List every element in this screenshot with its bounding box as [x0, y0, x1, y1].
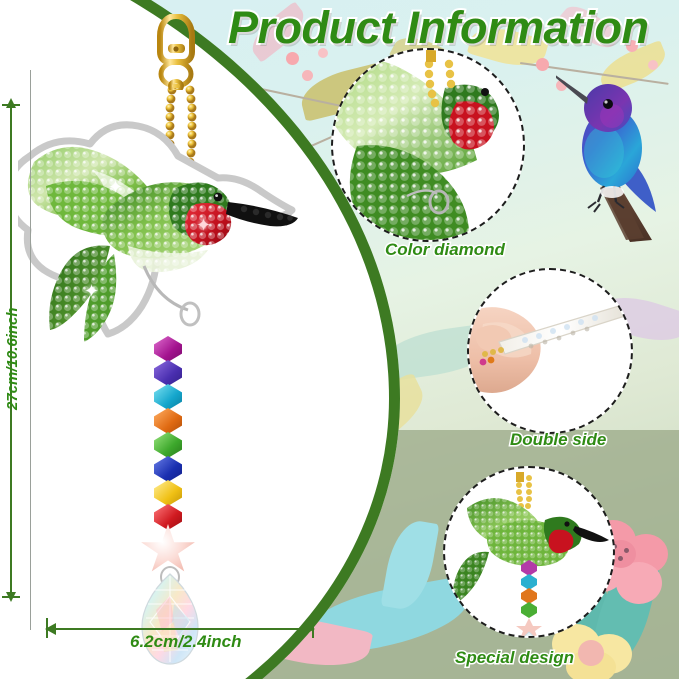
- width-endcap-left: [46, 618, 48, 638]
- berry-2: [302, 70, 313, 81]
- width-arrow-shaft: [56, 628, 304, 630]
- height-measurement-label: 27cm/10.6inch: [4, 307, 21, 410]
- flower-pink-petal-4: [616, 562, 662, 604]
- height-arrow-head-top: [6, 98, 16, 108]
- width-measurement-label: 6.2cm/2.4inch: [130, 632, 242, 652]
- flower-yellow-center: [578, 640, 604, 666]
- width-endcap-right: [312, 618, 314, 638]
- sparkle-3: ✦: [84, 282, 99, 300]
- berry-4: [536, 58, 549, 71]
- lobster-clasp-icon: [155, 14, 197, 90]
- callout-label-double-side: Double side: [510, 430, 606, 450]
- flower-stamen-3: [618, 556, 623, 561]
- sparkle-2: ✦: [196, 216, 211, 234]
- callout-double-side: [467, 268, 633, 434]
- real-hummingbird-illustration: [556, 52, 679, 242]
- flower-stamen-2: [624, 548, 629, 553]
- product-information-infographic: Product Information 27cm/10.6inch 6.2cm/…: [0, 0, 679, 679]
- page-title: Product Information: [228, 2, 648, 54]
- hummingbird-diamond-art: [18, 96, 318, 346]
- callout-color-diamond: [331, 48, 525, 242]
- callout-label-color-diamond: Color diamond: [385, 240, 505, 260]
- height-endcap-bottom: [2, 596, 20, 598]
- height-endcap-top: [2, 104, 20, 106]
- callout-label-special-design: Special design: [455, 648, 574, 668]
- sparkle-1: ✦: [108, 178, 123, 196]
- height-guide-line: [30, 70, 31, 630]
- callout-special-design: [443, 466, 615, 638]
- prism-drop: [134, 528, 206, 638]
